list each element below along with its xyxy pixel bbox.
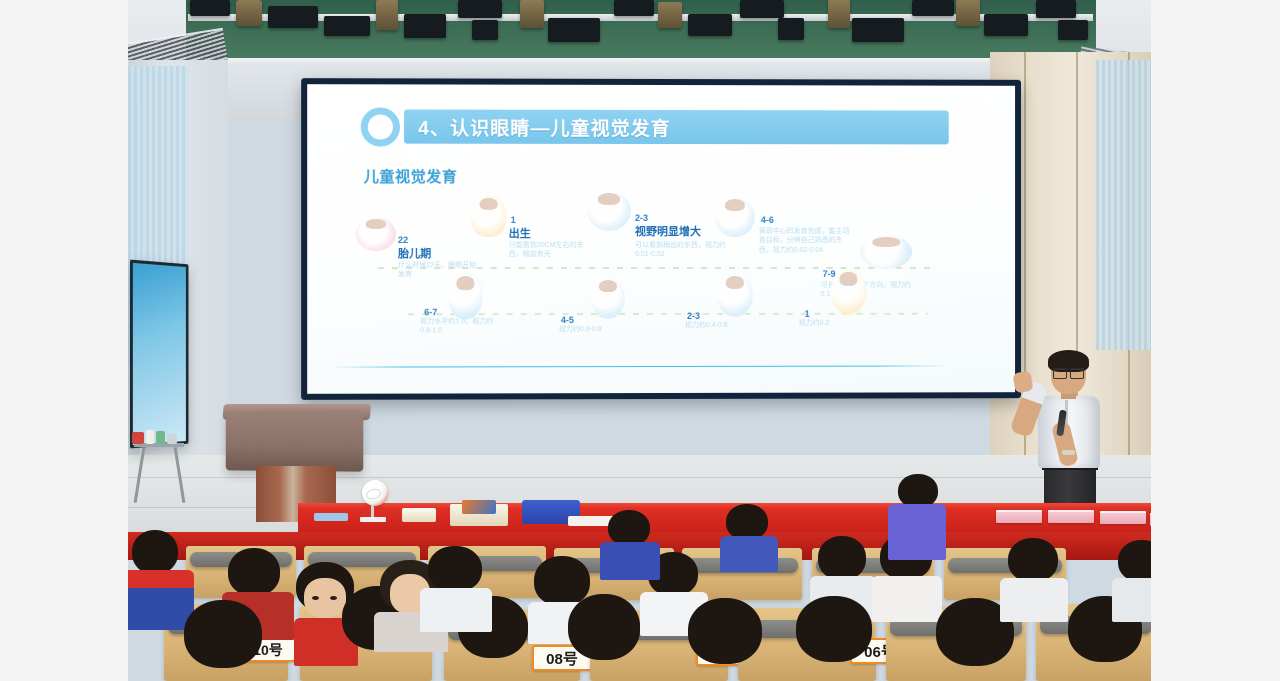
stage-light bbox=[956, 0, 980, 26]
stage-light bbox=[852, 18, 904, 42]
seat-placard-text: 08号 bbox=[546, 648, 578, 669]
stage-light bbox=[324, 16, 370, 36]
stage-light bbox=[548, 18, 600, 42]
stage-light bbox=[1058, 20, 1088, 40]
stage-light bbox=[778, 18, 804, 40]
stage-light bbox=[458, 0, 502, 18]
stage-light bbox=[190, 0, 230, 16]
stage-light bbox=[520, 0, 544, 28]
circle-bullet-icon bbox=[361, 107, 400, 146]
table-item-book bbox=[402, 508, 436, 522]
slide-subtitle: 儿童视觉发育 bbox=[364, 166, 458, 187]
eyeball-model bbox=[362, 480, 388, 506]
projection-screen-frame: 4、认识眼睛—儿童视觉发育 儿童视觉发育 22 胎儿期 什么时候22天，眼睛开始… bbox=[301, 78, 1021, 400]
lecture-photo: 4、认识眼睛—儿童视觉发育 儿童视觉发育 22 胎儿期 什么时候22天，眼睛开始… bbox=[128, 0, 1151, 681]
stage-light bbox=[658, 2, 682, 28]
table-item-book-cover bbox=[462, 500, 496, 514]
glasses-icon bbox=[1053, 368, 1084, 377]
screenshot-root: 4、认识眼睛—儿童视觉发育 儿童视觉发育 22 胎儿期 什么时候22天，眼睛开始… bbox=[0, 0, 1280, 681]
presenter-wristwatch bbox=[1062, 450, 1075, 455]
stage-light bbox=[688, 14, 732, 36]
slide-title-bar: 4、认识眼睛—儿童视觉发育 bbox=[404, 110, 949, 145]
stage-light bbox=[614, 0, 654, 16]
side-display-monitor bbox=[130, 260, 189, 449]
visual-development-timeline: 22 胎儿期 什么时候22天，眼睛开始发育 1 出生 只能看到20CM左右的东西… bbox=[348, 195, 978, 366]
projection-screen: 4、认识眼睛—儿童视觉发育 儿童视觉发育 22 胎儿期 什么时候22天，眼睛开始… bbox=[307, 84, 1015, 394]
stage-light bbox=[472, 20, 498, 40]
stage-light bbox=[268, 6, 318, 28]
podium bbox=[226, 410, 363, 471]
pink-booklet bbox=[1150, 513, 1151, 526]
stage-light bbox=[912, 0, 954, 16]
pink-booklet bbox=[1100, 511, 1146, 524]
right-curtain bbox=[1096, 60, 1151, 350]
slide-divider-line bbox=[329, 365, 949, 367]
stage-light bbox=[236, 0, 262, 26]
eyeball-model-base bbox=[360, 517, 386, 522]
table-item-glasses bbox=[314, 513, 348, 521]
stage-light bbox=[1036, 0, 1076, 18]
stage-light bbox=[404, 14, 446, 38]
monitor-shelf-items bbox=[132, 430, 178, 444]
stage-light bbox=[376, 0, 398, 30]
stage-light bbox=[740, 0, 784, 18]
slide-title: 4、认识眼睛—儿童视觉发育 bbox=[404, 113, 671, 140]
stage-light bbox=[828, 0, 850, 28]
stage-light bbox=[984, 14, 1028, 36]
presenter-hand bbox=[1012, 371, 1033, 394]
pink-booklet bbox=[1048, 510, 1094, 523]
pink-booklet bbox=[996, 510, 1042, 523]
